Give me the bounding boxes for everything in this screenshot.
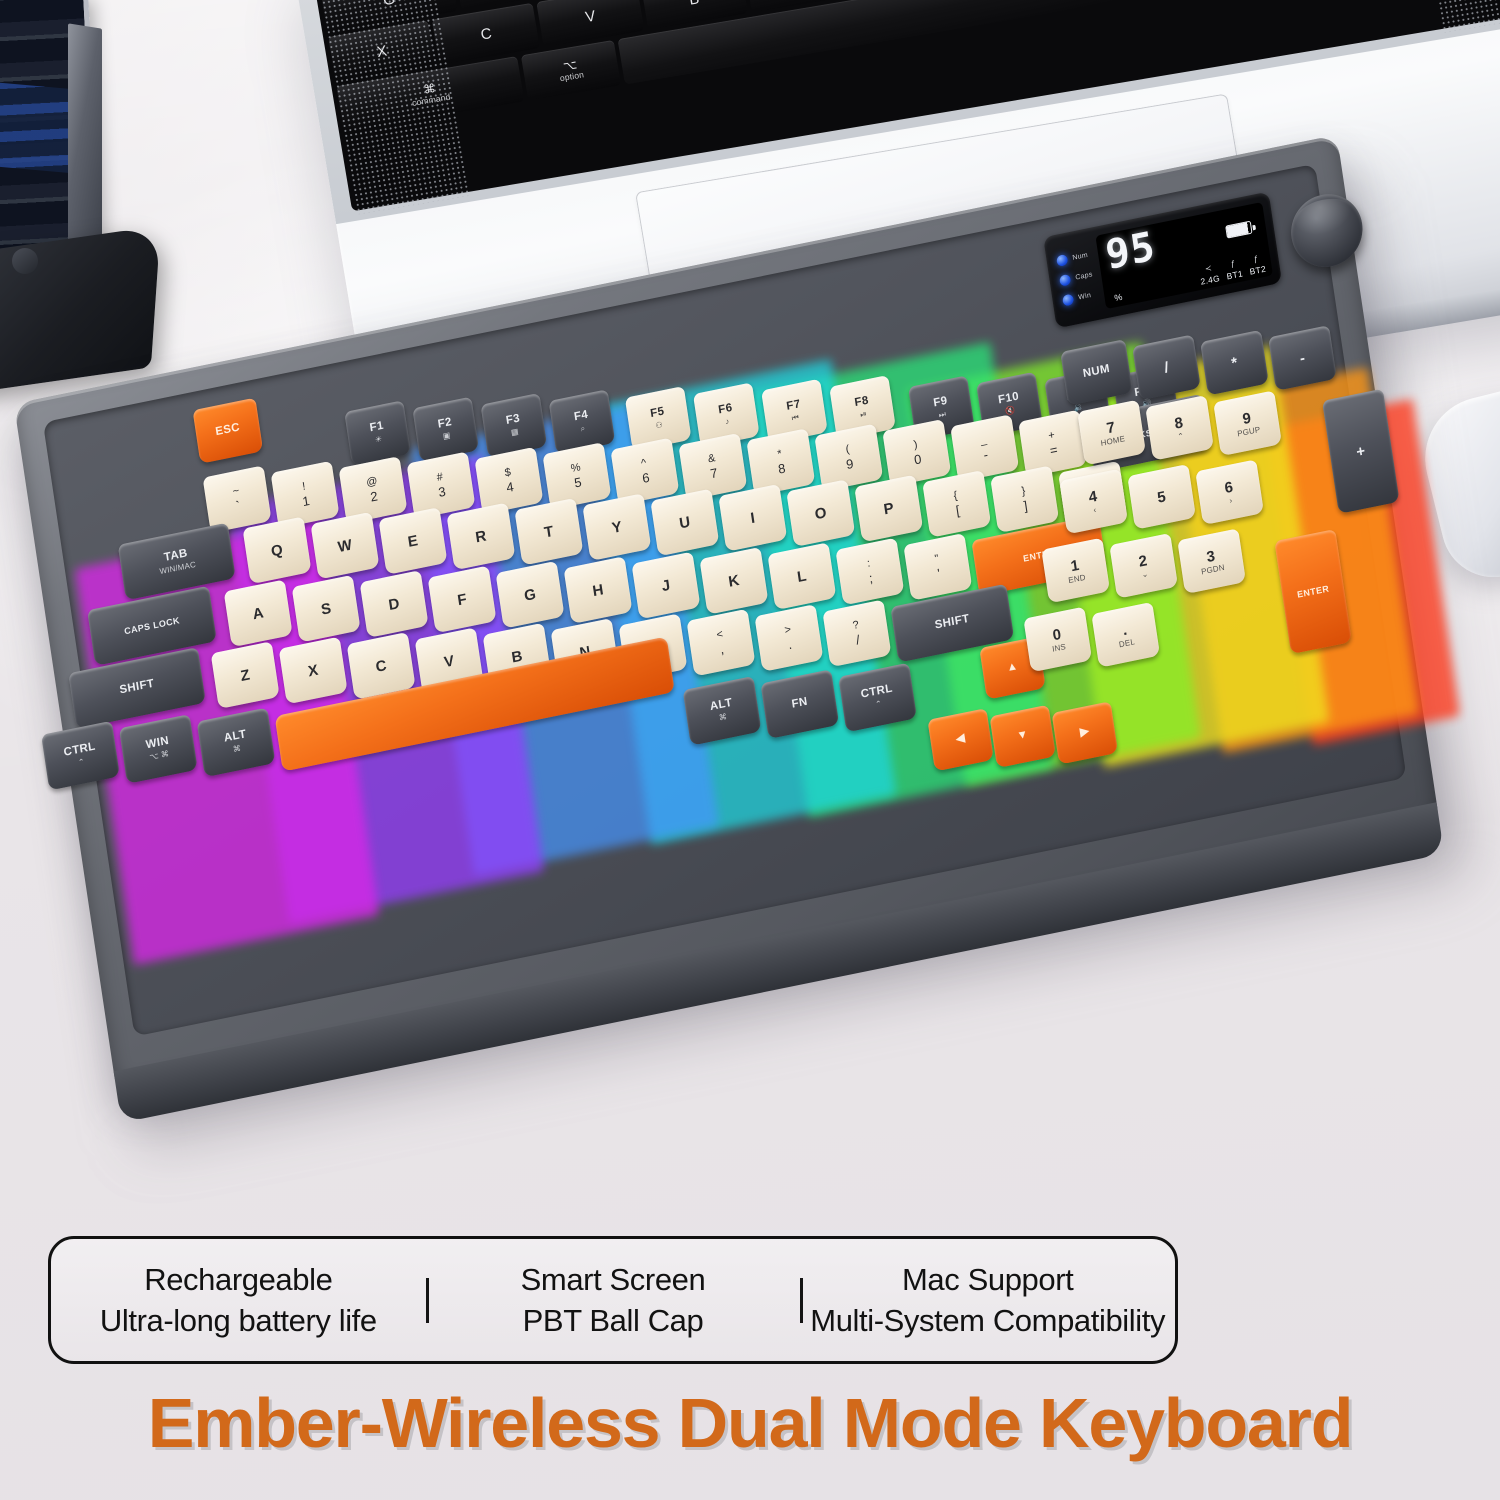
keycap-upper-legend: $ — [504, 467, 512, 479]
keycap-sublegend: INS — [1052, 643, 1067, 654]
keycap-lower-legend: . — [787, 638, 792, 652]
keycap-lower-legend: ' — [937, 567, 941, 580]
lcd-display: 95 % ≺ 2.4G ƒ BT1 ƒ — [1095, 202, 1273, 309]
keycap-sublegend: DEL — [1118, 638, 1135, 649]
mode-bt2: ƒ BT2 — [1247, 253, 1266, 277]
macbook-key-sublabel: option — [559, 71, 584, 84]
keycap-legend: Z — [239, 667, 250, 684]
keycap-legend: SHIFT — [934, 614, 970, 632]
keycap-upper-legend: % — [570, 462, 581, 475]
feature-smart-screen-line1: Smart Screen — [521, 1262, 706, 1298]
keycap-legend: R — [474, 528, 487, 545]
keycap-legend: J — [661, 577, 672, 594]
keycap-sublegend: ⌄ — [1141, 570, 1149, 579]
keycap-legend: ▼ — [1016, 730, 1029, 744]
smart-screen-module: Num Caps Win 95 % — [1043, 191, 1282, 328]
mode-bt1-label: BT1 — [1226, 268, 1244, 281]
indicator-caps: Caps — [1059, 269, 1094, 287]
keycap-upper-legend: ? — [852, 620, 860, 632]
keycap-lower-legend: 6 — [641, 471, 650, 485]
keycap-sublegend: ⏮ — [791, 413, 799, 422]
keycap-sublegend: HOME — [1100, 435, 1125, 448]
keycap-legend: F9 — [933, 396, 949, 410]
keycap-legend: V — [443, 653, 455, 670]
keycap-legend: FN — [791, 697, 809, 712]
tablet-stand-hinge — [12, 248, 38, 274]
keycap-legend: ALT — [223, 729, 247, 745]
keycap-legend: L — [796, 568, 807, 585]
keycap-sublegend: ⏯ — [860, 410, 868, 419]
mode-bt2-label: BT2 — [1249, 264, 1267, 277]
keycap-sublegend: ▦ — [510, 428, 519, 437]
keycap-legend: F6 — [718, 403, 734, 417]
keycap-legend: S — [320, 600, 332, 617]
keycap-upper-legend: ! — [302, 481, 307, 493]
keycap-legend: W — [337, 537, 353, 555]
keycap-sublegend: › — [1229, 496, 1233, 504]
keycap-sublegend: ⌥ ⌘ — [149, 750, 170, 762]
keycap-sublegend: ⌘ — [718, 713, 727, 723]
feature-mac-support: Mac Support Multi-System Compatibility — [800, 1262, 1175, 1339]
indicator-led-group: Num Caps Win — [1054, 249, 1096, 307]
keycap-legend: A — [252, 605, 265, 622]
keycap-legend: . — [1122, 622, 1129, 638]
keycap-lower-legend: 7 — [709, 466, 718, 480]
keycap-upper-legend: } — [1021, 486, 1026, 498]
connection-mode-group: ≺ 2.4G ƒ BT1 ƒ BT2 — [1198, 253, 1266, 287]
keycap-upper-legend: + — [1048, 430, 1056, 442]
keycap-legend: ◀ — [955, 733, 966, 746]
keycap-legend: F8 — [854, 396, 870, 410]
keycap-legend: U — [678, 514, 691, 531]
esc-key[interactable]: ESC — [193, 398, 264, 464]
keycap-sublegend: ⌃ — [1177, 432, 1185, 441]
keycap-lower-legend: / — [855, 633, 860, 647]
keycap-legend: ▶ — [1079, 726, 1090, 739]
keycap-legend: 7 — [1106, 419, 1117, 436]
bluetooth-icon: ƒ — [1253, 254, 1259, 264]
keycap-lower-legend: 4 — [505, 480, 514, 494]
keycap-legend: F — [456, 591, 467, 608]
keycap-legend: 4 — [1088, 488, 1099, 505]
keycap-legend: O — [814, 505, 828, 522]
keycap-sublegend: ▣ — [442, 431, 451, 440]
keycap-legend: C — [375, 657, 388, 674]
keycap-lower-legend: 2 — [370, 489, 379, 503]
indicator-win: Win — [1062, 289, 1097, 307]
indicator-caps-label: Caps — [1075, 271, 1093, 281]
macbook-key[interactable]: ⌥option — [520, 40, 621, 101]
keycap-upper-legend: > — [784, 625, 792, 637]
mode-bt1: ƒ BT1 — [1224, 257, 1243, 281]
battery-percentage-value: 95 — [1103, 227, 1158, 275]
keycap-lower-legend: ; — [868, 571, 873, 585]
battery-full-icon — [1225, 221, 1252, 239]
led-indicator-icon — [1062, 293, 1074, 306]
keycap-legend: 9 — [1242, 410, 1253, 427]
keycap-legend: D — [388, 596, 401, 613]
keycap-legend: 5 — [1156, 489, 1167, 506]
keycap-sublegend: END — [1068, 573, 1086, 584]
keycap-legend: 1 — [1070, 557, 1081, 574]
product-marketing-image: GHJKL:"|deleteXCVBNM<,>.?/shift⌘command⌥… — [0, 0, 1500, 1500]
keycap-upper-legend: < — [716, 629, 724, 641]
keycap-upper-legend: { — [953, 491, 958, 503]
keycap-legend: 6 — [1224, 479, 1235, 496]
keycap-upper-legend: : — [866, 558, 871, 570]
keycap-legend: F1 — [369, 421, 385, 435]
keycap-legend: K — [727, 572, 740, 589]
keycap-upper-legend: & — [707, 453, 716, 465]
product-headline: Ember-Wireless Dual Mode Keyboard — [0, 1383, 1500, 1463]
keycap-legend: SHIFT — [119, 679, 155, 697]
keycap-sublegend: ⚇ — [655, 421, 663, 430]
keycap-sublegend: ⌃ — [78, 758, 86, 767]
keycap-lower-legend: 5 — [573, 475, 582, 489]
mode-24g-label: 2.4G — [1200, 273, 1221, 287]
keycap-legend: 3 — [1206, 548, 1217, 565]
function-key-f1[interactable]: F1☀ — [344, 400, 411, 465]
led-indicator-icon — [1059, 273, 1071, 286]
wireless-signal-icon: ≺ — [1204, 263, 1212, 273]
keycap-legend: G — [523, 586, 537, 603]
keycap-lower-legend: 0 — [913, 452, 922, 466]
keycap-sublegend: ⌃ — [875, 700, 883, 709]
keycap-lower-legend: 3 — [437, 485, 446, 499]
battery-percent-symbol: % — [1114, 292, 1123, 304]
keycap-sublegend: ‹ — [1093, 506, 1097, 514]
keycap-legend: * — [1230, 355, 1238, 371]
keycap-legend: Y — [611, 519, 623, 536]
keycap-legend: B — [511, 648, 524, 665]
keycap-lower-legend: 1 — [302, 494, 311, 508]
keycap-legend: ▲ — [1006, 661, 1019, 675]
keycap-sublegend: ♪ — [725, 417, 730, 426]
keycap-upper-legend: _ — [980, 435, 988, 447]
keycap-legend: / — [1163, 359, 1170, 375]
keycap-legend: P — [883, 500, 895, 517]
keycap-lower-legend: ] — [1023, 499, 1028, 513]
keycap-legend: E — [407, 533, 419, 550]
keycap-legend: H — [591, 582, 604, 599]
bluetooth-icon: ƒ — [1230, 259, 1236, 269]
keycap-lower-legend: [ — [955, 504, 960, 518]
keycap-upper-legend: # — [436, 472, 444, 484]
feature-rechargeable-line2: Ultra-long battery life — [100, 1303, 377, 1339]
feature-rechargeable: Rechargeable Ultra-long battery life — [51, 1262, 426, 1339]
keycap-upper-legend: ^ — [640, 458, 647, 470]
keycap-legend: F3 — [505, 414, 521, 428]
keycap-legend: I — [750, 510, 757, 526]
keycap-upper-legend: " — [934, 554, 939, 566]
keycap-legend: 0 — [1052, 626, 1063, 643]
keycap-upper-legend: ( — [845, 444, 850, 456]
mode-24g: ≺ 2.4G — [1198, 262, 1220, 287]
keycap-sublegend: ⏭ — [938, 410, 946, 419]
keycap-lower-legend: , — [719, 642, 724, 656]
led-indicator-icon — [1056, 253, 1068, 266]
keycap-legend: Q — [270, 542, 284, 559]
keycap-legend: F10 — [998, 392, 1020, 408]
keycap-sublegend: PGUP — [1237, 425, 1261, 438]
keycap-legend: T — [543, 523, 554, 540]
keycap-upper-legend: ) — [913, 440, 918, 452]
tablet-on-stand — [0, 0, 151, 335]
keycap-legend: X — [307, 662, 319, 679]
keycap-legend: + — [1355, 443, 1366, 460]
keycap-lower-legend: = — [1049, 443, 1058, 457]
keycap-legend: 8 — [1174, 415, 1185, 432]
indicator-num: Num — [1056, 249, 1091, 267]
keycap-legend: F2 — [437, 417, 453, 431]
keycap-legend: F4 — [573, 410, 589, 424]
keycap-legend: ALT — [709, 698, 733, 714]
keycap-legend: ENTER — [1297, 584, 1330, 599]
keycap-lower-legend: - — [983, 448, 989, 462]
keycap-sublegend: ⌘ — [232, 744, 241, 754]
feature-mac-support-line1: Mac Support — [902, 1262, 1073, 1298]
feature-smart-screen-line2: PBT Ball Cap — [523, 1303, 704, 1339]
keycap-legend: F7 — [786, 399, 802, 413]
keycap-upper-legend: ~ — [232, 486, 240, 498]
keycap-sublegend: ⌕ — [580, 424, 586, 433]
feature-callout-box: Rechargeable Ultra-long battery life Sma… — [48, 1236, 1178, 1364]
keycap-legend: - — [1299, 350, 1306, 366]
keycap-lower-legend: 9 — [845, 457, 854, 471]
keycap-upper-legend: * — [777, 449, 783, 461]
indicator-win-label: Win — [1078, 291, 1092, 301]
keycap-lower-legend: 8 — [777, 461, 786, 475]
keycap-legend: CAPS LOCK — [124, 616, 181, 636]
feature-mac-support-line2: Multi-System Compatibility — [810, 1303, 1165, 1339]
keycap-legend: ESC — [215, 423, 241, 439]
keycap-legend: NUM — [1082, 364, 1111, 381]
keycap-lower-legend: ` — [235, 499, 241, 513]
keycap-sublegend: PGDN — [1201, 563, 1226, 576]
indicator-num-label: Num — [1072, 251, 1088, 261]
feature-smart-screen: Smart Screen PBT Ball Cap — [426, 1262, 801, 1339]
keycap-legend: 2 — [1138, 553, 1149, 570]
keycap-sublegend: ☀ — [374, 435, 382, 444]
keycap-legend: F5 — [650, 407, 666, 421]
feature-rechargeable-line1: Rechargeable — [144, 1262, 332, 1298]
